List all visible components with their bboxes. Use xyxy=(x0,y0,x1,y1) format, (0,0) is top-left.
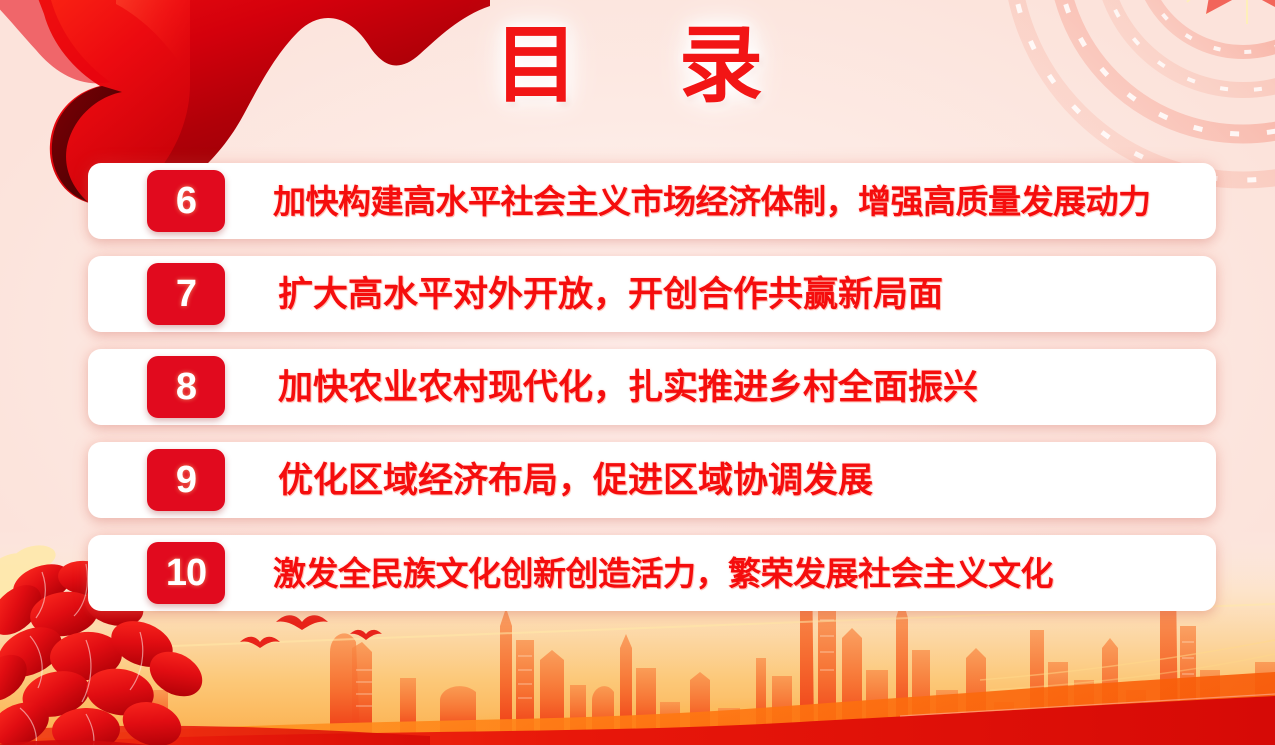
contents-row-8[interactable]: 8 加快农业农村现代化，扎实推进乡村全面振兴 xyxy=(88,349,1216,425)
contents-row-6[interactable]: 6 加快构建高水平社会主义市场经济体制，增强高质量发展动力 xyxy=(88,163,1216,239)
contents-row-7[interactable]: 7 扩大高水平对外开放，开创合作共赢新局面 xyxy=(88,256,1216,332)
contents-row-10[interactable]: 10 激发全民族文化创新创造活力，繁荣发展社会主义文化 xyxy=(88,535,1216,611)
slide-canvas: 目 录 6 加快构建高水平社会主义市场经济体制，增强高质量发展动力 7 扩大高水… xyxy=(0,0,1275,745)
contents-number-badge: 6 xyxy=(147,170,225,232)
contents-row-9[interactable]: 9 优化区域经济布局，促进区域协调发展 xyxy=(88,442,1216,518)
contents-number-badge: 8 xyxy=(147,356,225,418)
page-title: 目 录 xyxy=(0,18,1275,112)
red-star-icon xyxy=(1181,0,1275,14)
contents-number-badge: 7 xyxy=(147,263,225,325)
contents-item-label: 激发全民族文化创新创造活力，繁荣发展社会主义文化 xyxy=(273,557,1071,590)
contents-item-label: 扩大高水平对外开放，开创合作共赢新局面 xyxy=(278,277,961,312)
contents-item-label: 优化区域经济布局，促进区域协调发展 xyxy=(278,463,891,498)
contents-item-label: 加快构建高水平社会主义市场经济体制，增强高质量发展动力 xyxy=(273,185,1169,218)
contents-number-badge: 10 xyxy=(147,542,225,604)
contents-number-badge: 9 xyxy=(147,449,225,511)
contents-item-label: 加快农业农村现代化，扎实推进乡村全面振兴 xyxy=(278,370,996,405)
contents-list: 6 加快构建高水平社会主义市场经济体制，增强高质量发展动力 7 扩大高水平对外开… xyxy=(88,163,1216,611)
